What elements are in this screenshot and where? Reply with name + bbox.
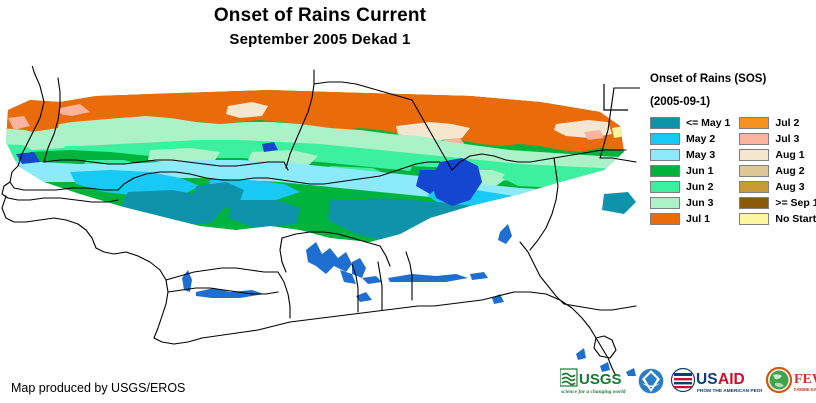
legend-swatch [739,117,769,129]
legend-column-right: Jul 2 Jul 3 Aug 1 Aug 2 Aug 3 [739,116,816,226]
fewsnet-logo: FEWS NET FAMINE EARLY WARNING SYSTEMS NE… [766,366,816,396]
map-page: Onset of Rains Current September 2005 De… [0,0,816,403]
legend-label: >= Sep 1 [775,197,816,209]
legend-item[interactable]: Jul 1 [650,212,730,226]
legend-item[interactable]: Jun 3 [650,196,730,210]
map-credit: Map produced by USGS/EROS [11,380,185,396]
legend-swatch [739,149,769,161]
usgs-logo: USGS science for a changing world [560,366,632,396]
title-block: Onset of Rains Current September 2005 De… [0,4,640,50]
svg-text:science for a changing world: science for a changing world [560,389,626,395]
legend-item[interactable]: No Start [739,212,816,226]
legend-item[interactable]: May 2 [650,132,730,146]
legend-label: Aug 2 [775,165,804,177]
legend-swatch [739,133,769,145]
noaa-logo [636,366,666,396]
svg-text:AID: AID [718,371,745,388]
legend-column-left: <= May 1 May 2 May 3 Jun 1 Jun 2 [650,116,730,226]
legend-item[interactable]: Aug 3 [739,180,816,194]
legend-swatch [650,197,680,209]
svg-text:FROM THE AMERICAN PEOPLE: FROM THE AMERICAN PEOPLE [697,388,762,394]
legend-label: <= May 1 [686,117,730,129]
legend-date: (2005-09-1) [650,95,816,109]
legend-swatch [650,213,680,225]
legend-swatch [739,165,769,177]
legend-swatch [650,133,680,145]
legend-label: Jul 1 [686,213,710,225]
page-subtitle: September 2005 Dekad 1 [0,30,640,50]
legend-swatch [739,197,769,209]
legend-label: No Start [775,213,816,225]
logo-strip: USGS science for a changing world [560,364,810,398]
map-graphic [0,66,640,376]
legend-swatch [739,181,769,193]
legend-item[interactable]: Aug 2 [739,164,816,178]
legend-swatch [650,117,680,129]
legend-item[interactable]: May 3 [650,148,730,162]
legend-item[interactable]: Aug 1 [739,148,816,162]
legend-item[interactable]: <= May 1 [650,116,730,130]
legend-label: May 2 [686,133,715,145]
legend-item[interactable]: Jun 1 [650,164,730,178]
map-canvas[interactable] [0,66,640,376]
legend-label: Aug 3 [775,181,804,193]
svg-text:US: US [696,371,718,388]
legend-label: Jun 1 [686,165,713,177]
legend-item[interactable]: >= Sep 1 [739,196,816,210]
legend-item[interactable]: Jul 3 [739,132,816,146]
legend-label: Jul 3 [775,133,799,145]
legend-swatch [650,165,680,177]
legend-label: Jun 3 [686,197,713,209]
legend-label: Jun 2 [686,181,713,193]
legend-swatch [650,181,680,193]
legend-swatch [650,149,680,161]
legend-title: Onset of Rains (SOS) [650,72,816,86]
svg-text:FEWS NET: FEWS NET [794,372,816,387]
svg-text:USGS: USGS [579,371,622,388]
svg-text:FAMINE EARLY WARNING SYSTEMS N: FAMINE EARLY WARNING SYSTEMS NETWORK [794,387,816,392]
legend-label: Aug 1 [775,149,804,161]
legend-item[interactable]: Jun 2 [650,180,730,194]
page-title: Onset of Rains Current [0,4,640,28]
map-legend: Onset of Rains (SOS) (2005-09-1) <= May … [650,72,816,226]
legend-label: May 3 [686,149,715,161]
legend-item[interactable]: Jul 2 [739,116,816,130]
legend-swatch [739,213,769,225]
legend-label: Jul 2 [775,117,799,129]
usaid-logo: US AID FROM THE AMERICAN PEOPLE [670,366,762,396]
